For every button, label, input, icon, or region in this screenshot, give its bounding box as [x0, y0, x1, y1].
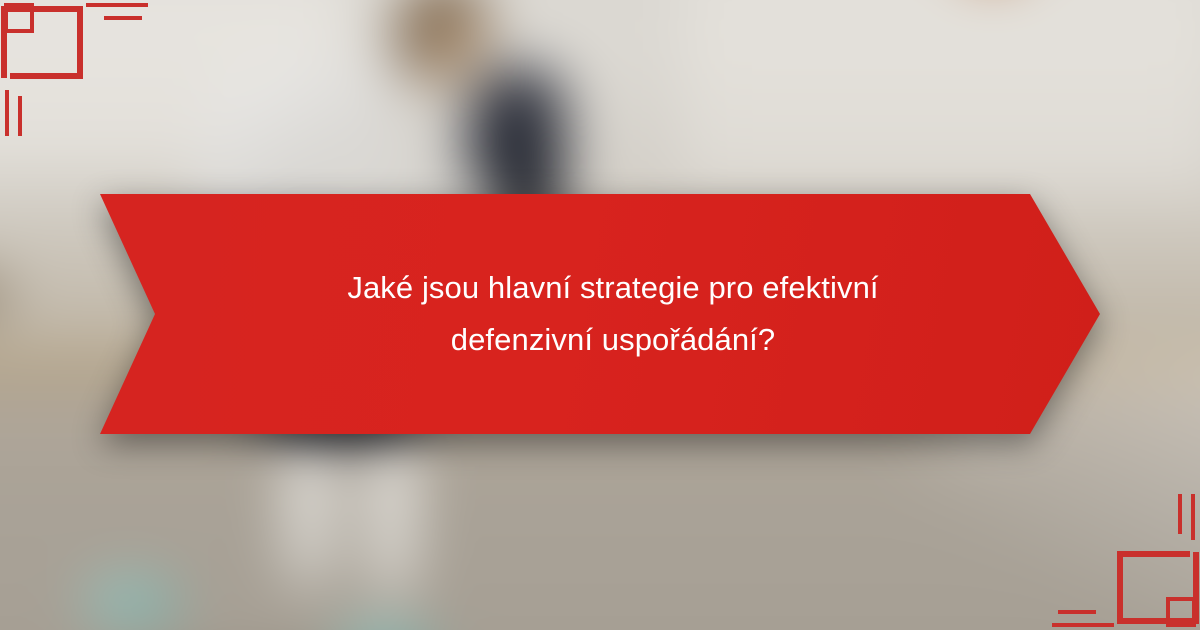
ribbon-shape: Jaké jsou hlavní strategie pro efektivní…: [100, 194, 1100, 434]
player-shoe-right: [334, 625, 436, 630]
banner-canvas: Jaké jsou hlavní strategie pro efektivní…: [0, 0, 1200, 630]
player-leg-right: [369, 442, 416, 601]
player-leg-left: [285, 442, 334, 590]
player-face: [429, 21, 486, 87]
question-text: Jaké jsou hlavní strategie pro efektivní…: [283, 262, 943, 366]
question-ribbon: Jaké jsou hlavní strategie pro efektivní…: [100, 194, 1100, 434]
player-shoe-left: [82, 577, 180, 626]
